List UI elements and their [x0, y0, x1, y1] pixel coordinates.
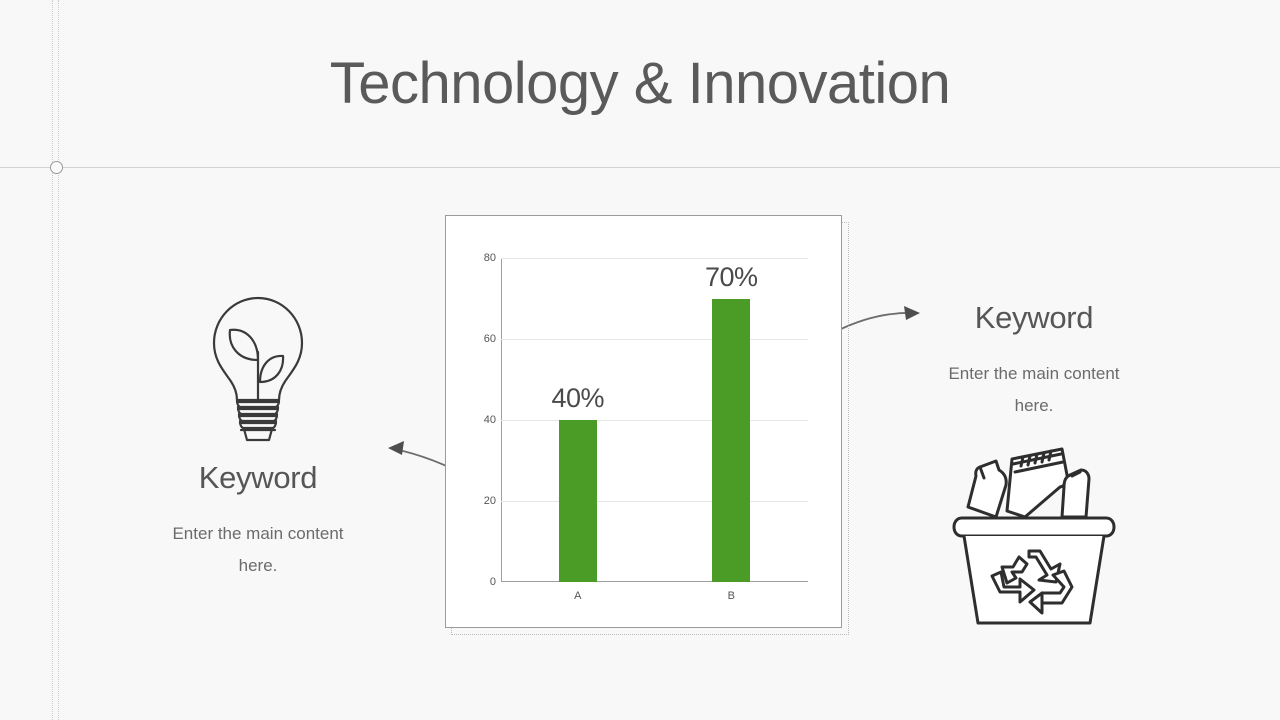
- bar-value-label: 70%: [705, 262, 758, 293]
- gridline: [501, 339, 808, 340]
- y-axis-tick-label: 0: [490, 576, 496, 588]
- gridline: [501, 420, 808, 421]
- bar-chart[interactable]: 02040608040%A70%B: [445, 215, 842, 628]
- left-keyword-heading: Keyword: [108, 460, 408, 496]
- chart-bar[interactable]: [712, 299, 750, 583]
- y-axis-tick-label: 40: [484, 414, 496, 426]
- horizontal-guide[interactable]: [0, 167, 1280, 168]
- page-title: Technology & Innovation: [0, 52, 1280, 116]
- gridline: [501, 501, 808, 502]
- x-axis-line: [501, 581, 808, 582]
- y-axis-tick-label: 20: [484, 495, 496, 507]
- chart-bar[interactable]: [559, 420, 597, 582]
- left-content-block: Keyword Enter the main content here.: [108, 290, 408, 583]
- lightbulb-plant-icon: [108, 290, 408, 460]
- left-body-text: Enter the main content here.: [153, 518, 363, 583]
- chart-plot-area: 02040608040%A70%B: [446, 216, 841, 627]
- y-axis-tick-label: 80: [484, 252, 496, 264]
- x-axis-category-label: A: [574, 590, 581, 602]
- bar-value-label: 40%: [551, 383, 604, 414]
- recycling-bin-icon: [884, 445, 1184, 635]
- guide-intersection-handle[interactable]: [50, 161, 63, 174]
- y-axis-tick-label: 60: [484, 333, 496, 345]
- gridline: [501, 258, 808, 259]
- x-axis-category-label: B: [728, 590, 735, 602]
- right-body-text: Enter the main content here.: [929, 358, 1139, 423]
